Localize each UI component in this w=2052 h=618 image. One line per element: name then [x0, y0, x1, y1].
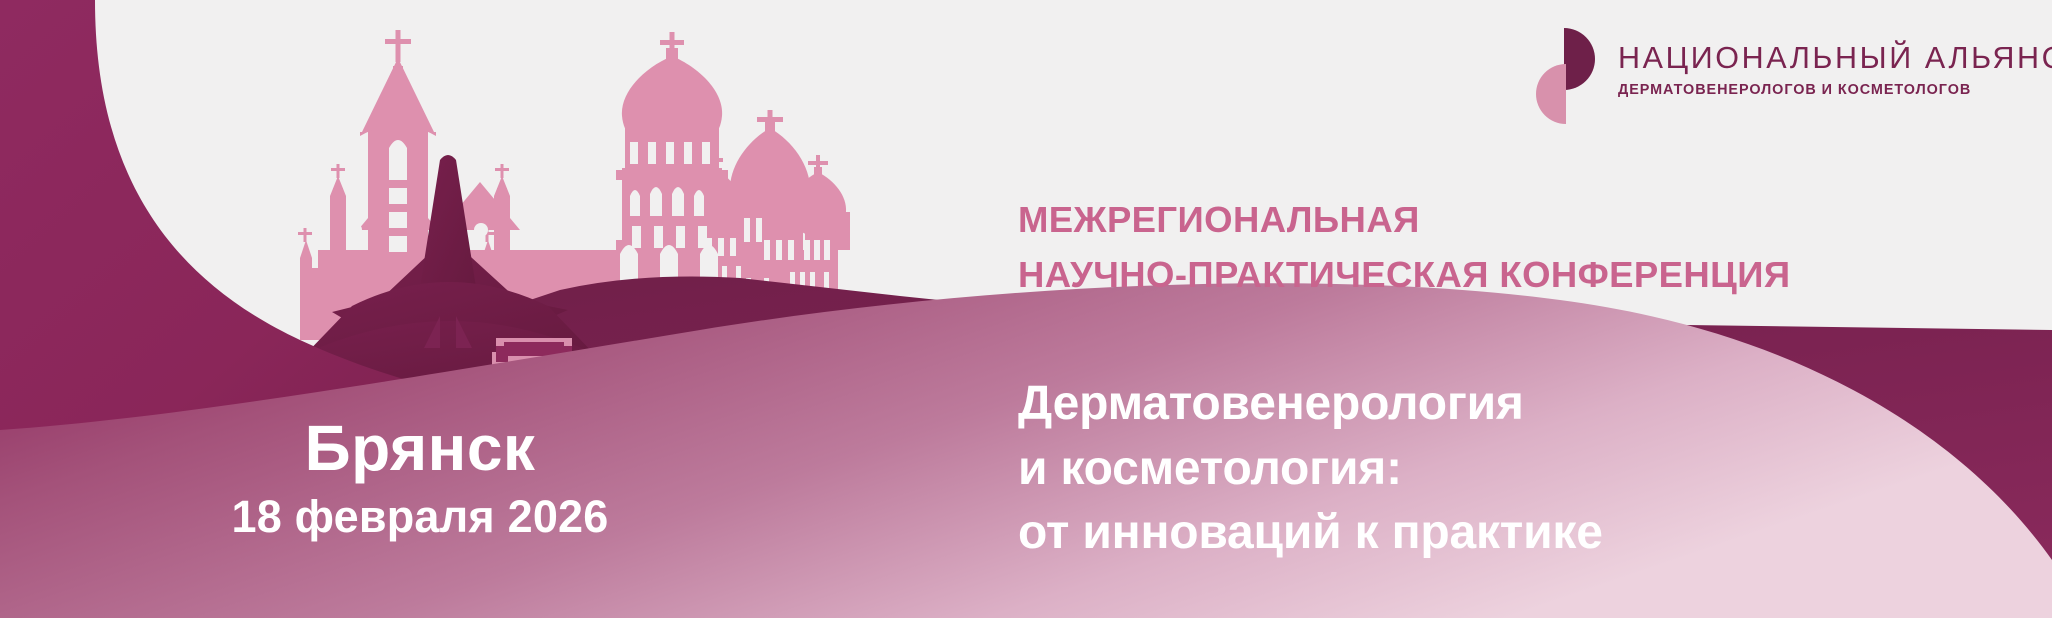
logo-title: НАЦИОНАЛЬНЫЙ АЛЬЯНС: [1618, 43, 2052, 74]
title-line-2: и косметология:: [1018, 437, 1603, 502]
conference-title: Дерматовенерология и косметология: от ин…: [1018, 372, 1603, 566]
logo-subtitle: ДЕРМАТОВЕНЕРОЛОГОВ И КОСМЕТОЛОГОВ: [1618, 83, 2052, 97]
kicker-line-1: МЕЖРЕГИОНАЛЬНАЯ: [1018, 192, 1791, 247]
logo-text-group: НАЦИОНАЛЬНЫЙ АЛЬЯНС ДЕРМАТОВЕНЕРОЛОГОВ И…: [1618, 43, 2052, 97]
kicker-line-2: НАУЧНО-ПРАКТИЧЕСКАЯ КОНФЕРЕНЦИЯ: [1018, 247, 1791, 302]
logo-half-dark-icon: [1564, 28, 1595, 90]
conference-banner: НАЦИОНАЛЬНЫЙ АЛЬЯНС ДЕРМАТОВЕНЕРОЛОГОВ И…: [0, 0, 2052, 618]
title-line-3: от инноваций к практике: [1018, 501, 1603, 566]
event-date: 18 февраля 2026: [180, 493, 660, 540]
national-alliance-logo: НАЦИОНАЛЬНЫЙ АЛЬЯНС ДЕРМАТОВЕНЕРОЛОГОВ И…: [1536, 28, 2052, 112]
alliance-logo-mark-icon: [1536, 28, 1602, 112]
title-line-1: Дерматовенерология: [1018, 372, 1603, 437]
conference-kicker: МЕЖРЕГИОНАЛЬНАЯ НАУЧНО-ПРАКТИЧЕСКАЯ КОНФ…: [1018, 192, 1791, 303]
event-city: Брянск: [180, 416, 660, 481]
event-location-block: Брянск 18 февраля 2026: [180, 416, 660, 541]
